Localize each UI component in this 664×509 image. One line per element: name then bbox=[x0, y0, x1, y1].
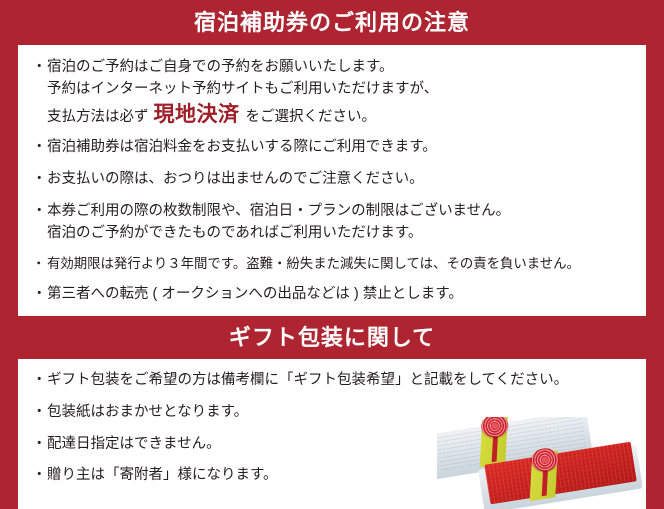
bullet-usable: ・ 宿泊補助券は宿泊料金をお支払いする際にご利用できます。 bbox=[32, 137, 632, 159]
bullet-marker: ・ bbox=[32, 201, 47, 223]
bullet-no-resale-text: 第三者への転売 ( オークションへの出品などは ) 禁止とします。 bbox=[47, 284, 632, 306]
bullet-marker: ・ bbox=[32, 57, 47, 79]
bullet-usable-text: 宿泊補助券は宿泊料金をお支払いする際にご利用できます。 bbox=[47, 137, 632, 159]
bullet-marker: ・ bbox=[32, 370, 47, 392]
bullet-no-limit-body: 本券ご利用の際の枚数制限や、宿泊日・プランの制限はございません。 宿泊のご予約が… bbox=[47, 201, 632, 245]
bullet-gift-request: ・ ギフト包装をご希望の方は備考欄に「ギフト包装希望」と記載をしてください。 bbox=[32, 370, 632, 392]
gift-panel: ・ ギフト包装をご希望の方は備考欄に「ギフト包装希望」と記載をしてください。 ・… bbox=[18, 359, 646, 509]
bullet-marker: ・ bbox=[32, 465, 47, 487]
gift-section-title: ギフト包装に関して bbox=[0, 316, 664, 359]
bullet-reservation-line-3: 支払方法は必ず 現地決済 をご選択ください。 bbox=[47, 104, 632, 129]
bullet-no-resale: ・ 第三者への転売 ( オークションへの出品などは ) 禁止とします。 bbox=[32, 284, 632, 306]
bullet-reservation-line-2: 予約はインターネット予約サイトもご利用いただけますが、 bbox=[47, 79, 632, 101]
payment-method-suffix: をご選択ください。 bbox=[246, 107, 377, 129]
onsite-payment-emphasis: 現地決済 bbox=[154, 104, 240, 125]
bullet-marker: ・ bbox=[32, 169, 47, 191]
bullet-no-change-text: お支払いの際は、おつりは出ませんのでご注意ください。 bbox=[47, 169, 632, 191]
bullet-marker: ・ bbox=[32, 402, 47, 424]
bullet-no-limit-line-2: 宿泊のご予約ができたものであればご利用いただけます。 bbox=[47, 223, 632, 245]
bullet-reservation-body: 宿泊のご予約はご自身での予約をお願いいたします。 予約はインターネット予約サイト… bbox=[47, 57, 632, 128]
bullet-gift-request-text: ギフト包装をご希望の方は備考欄に「ギフト包装希望」と記載をしてください。 bbox=[47, 370, 632, 392]
bullet-no-limit: ・ 本券ご利用の際の枚数制限や、宿泊日・プランの制限はございません。 宿泊のご予… bbox=[32, 201, 632, 245]
notice-panel: ・ 宿泊のご予約はご自身での予約をお願いいたします。 予約はインターネット予約サ… bbox=[18, 45, 646, 316]
notice-section-title: 宿泊補助券のご利用の注意 bbox=[0, 0, 664, 45]
bullet-reservation: ・ 宿泊のご予約はご自身での予約をお願いいたします。 予約はインターネット予約サ… bbox=[32, 57, 632, 128]
bullet-reservation-line-1: 宿泊のご予約はご自身での予約をお願いいたします。 bbox=[47, 57, 632, 79]
payment-method-prefix: 支払方法は必ず bbox=[47, 107, 149, 129]
bullet-marker: ・ bbox=[32, 284, 47, 306]
bullet-marker: ・ bbox=[32, 434, 47, 456]
bullet-marker: ・ bbox=[32, 137, 47, 159]
bullet-marker: ・ bbox=[32, 254, 47, 274]
bullet-expiry-text: 有効期限は発行より３年間です。盗難・紛失また減失に関しては、その責を負いません。 bbox=[47, 254, 632, 274]
bullet-no-change: ・ お支払いの際は、おつりは出ませんのでご注意ください。 bbox=[32, 169, 632, 191]
gift-wrapped-boxes-photo bbox=[437, 417, 642, 509]
bullet-no-limit-line-1: 本券ご利用の際の枚数制限や、宿泊日・プランの制限はございません。 bbox=[47, 201, 632, 223]
bullet-expiry: ・ 有効期限は発行より３年間です。盗難・紛失また減失に関しては、その責を負いませ… bbox=[32, 254, 632, 274]
